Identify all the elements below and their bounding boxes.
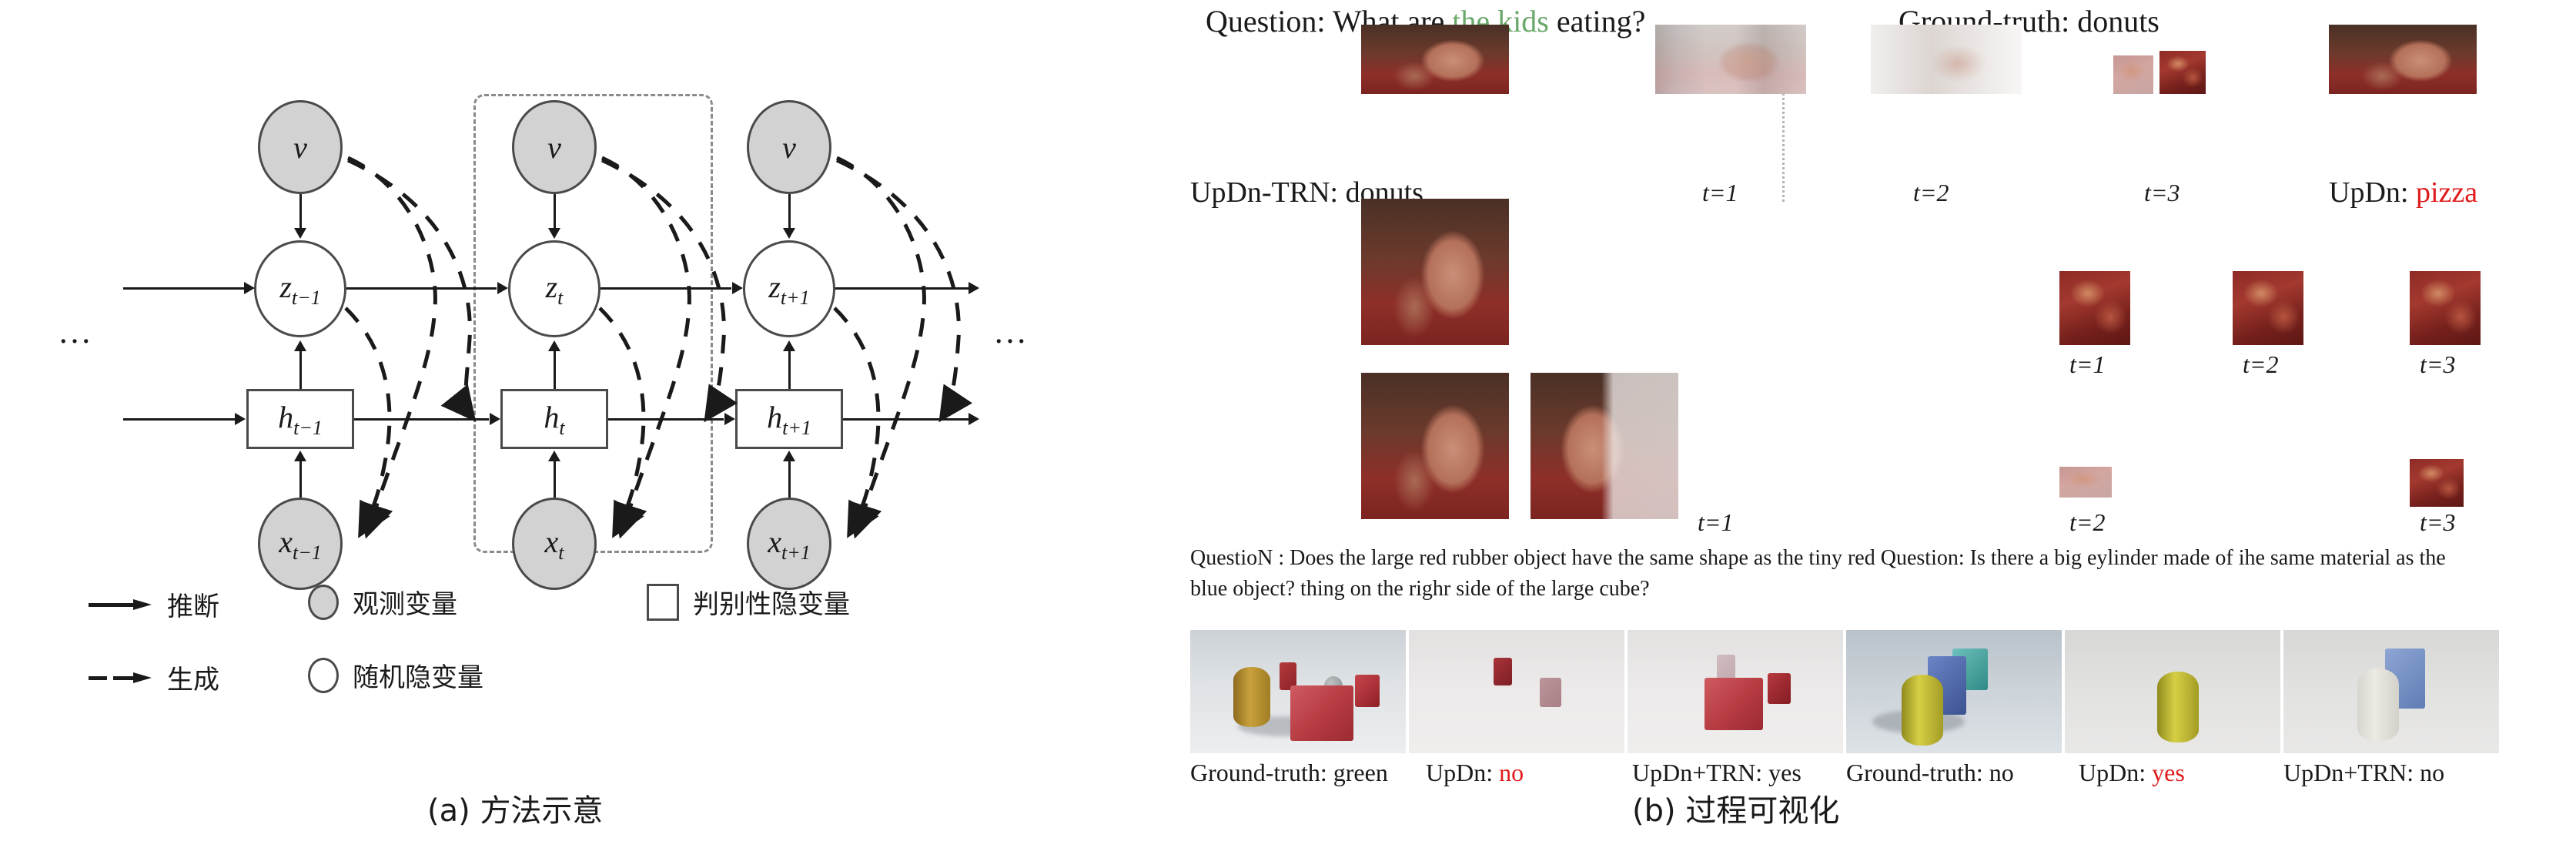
- node-v-cur: v: [512, 100, 597, 194]
- clevr-image-updn-trn-yes: [1628, 630, 1843, 753]
- edge-x-to-h-prev: [299, 461, 302, 498]
- row1-label-updn-prefix: UpDn:: [2329, 176, 2416, 209]
- clevr-label-updn-trn-yes-answer: yes: [1768, 759, 1802, 786]
- node-h-prev-label: ht−1: [278, 399, 323, 440]
- edge-h-prev-to-h-cur: [354, 418, 489, 421]
- clevr-label-gt-no-answer: no: [1989, 759, 2014, 786]
- legend-label-stochastic: 随机隐变量: [353, 656, 483, 694]
- edge-z-prev-to-z-cur: [346, 287, 497, 290]
- node-z-next-label: zt+1: [768, 269, 809, 310]
- empty-circle-icon: [308, 658, 339, 693]
- clevr-image-updn-no: [1409, 630, 1624, 753]
- panel-b-visualization: Question: What are the kids eating? Grou…: [1155, 0, 2576, 858]
- dashed-arrow-icon: [89, 672, 153, 683]
- edge-h-cur-to-h-next: [608, 418, 724, 421]
- caption-panel-a: (a) 方法示意: [427, 786, 603, 830]
- node-v-cur-label: v: [547, 129, 561, 166]
- clevr-image-updn-trn-no: [2283, 630, 2499, 753]
- arrowhead-z-cur-to-z-next: [732, 282, 743, 294]
- clevr-image-updn-yes: [2065, 630, 2280, 753]
- legend-label-generation: 生成: [167, 659, 219, 696]
- arrowhead-z-in-left: [244, 282, 255, 294]
- row2-step-label-t3: t=3: [2420, 350, 2455, 379]
- row1-label-updn: UpDn: pizza: [2329, 176, 2477, 209]
- arrowhead-z-prev-to-z-cur: [497, 282, 508, 294]
- node-v-prev: v: [258, 100, 343, 194]
- node-v-next: v: [747, 100, 831, 194]
- thumb-row1-t3b: [2159, 51, 2206, 94]
- node-x-cur: xt: [512, 498, 597, 590]
- thumb-row3-original: [1361, 373, 1509, 519]
- node-z-prev: zt−1: [254, 240, 346, 337]
- row1-step-label-t2: t=2: [1913, 179, 1949, 207]
- legend-item-stochastic: 随机隐变量: [308, 656, 483, 694]
- arrowhead-v-to-z-next: [783, 228, 795, 239]
- solid-arrow-icon: [89, 599, 153, 610]
- clevr-label-gt-green: Ground-truth: green: [1190, 759, 1388, 787]
- legend-label-observed: 观测变量: [353, 583, 457, 621]
- thumb-row3-t2: [2059, 467, 2112, 498]
- rectangle-icon: [647, 584, 679, 621]
- edge-x-to-h-cur: [554, 461, 556, 498]
- clevr-image-gt-no: [1846, 630, 2062, 753]
- legend-item-deterministic: 判别性隐变量: [647, 583, 850, 621]
- edge-h-to-z-prev: [299, 350, 302, 389]
- node-v-prev-label: v: [293, 129, 307, 166]
- row3-step-label-t3: t=3: [2420, 508, 2455, 537]
- ellipsis-right: …: [993, 312, 1030, 351]
- legend-label-deterministic: 判别性隐变量: [693, 583, 850, 621]
- clevr-label-updn-trn-no-answer: no: [2420, 759, 2444, 786]
- arrowhead-h-to-z-prev: [294, 340, 306, 351]
- arrowhead-x-to-h-prev: [294, 451, 306, 461]
- clevr-label-gt-green-prefix: Ground-truth:: [1190, 759, 1333, 786]
- row3-step-label-t2: t=2: [2069, 508, 2105, 537]
- thumb-row2-original: [1361, 199, 1509, 345]
- arrowhead-h-prev-to-h-cur: [490, 413, 500, 425]
- legend-item-observed: 观测变量: [308, 583, 457, 621]
- clevr-label-gt-no-prefix: Ground-truth:: [1846, 759, 1989, 786]
- edge-x-to-h-next: [788, 461, 791, 498]
- edge-z-out-right: [835, 287, 970, 290]
- node-h-cur: ht: [500, 389, 608, 449]
- vqa-question-suffix: eating?: [1549, 4, 1646, 39]
- node-z-cur-label: zt: [546, 269, 564, 310]
- panel-a-graphical-model: v zt−1 ht−1 xt−1 v zt ht xt v zt+1: [0, 0, 1155, 858]
- edge-h-out-right: [843, 418, 970, 421]
- thumb-row1-updn: [2329, 25, 2477, 94]
- arrowhead-h-cur-to-h-next: [724, 413, 735, 425]
- clevr-label-gt-no: Ground-truth: no: [1846, 759, 2014, 787]
- node-h-next: ht+1: [735, 389, 843, 449]
- arrowhead-h-to-z-cur: [548, 340, 560, 351]
- clevr-label-updn-no-answer: no: [1499, 759, 1524, 786]
- row1-step-label-t1: t=1: [1702, 179, 1738, 207]
- row3-step-label-t1: t=1: [1698, 508, 1733, 537]
- clevr-image-gt-green: [1190, 630, 1406, 753]
- edge-z-cur-to-z-next: [601, 287, 731, 290]
- arrowhead-x-to-h-cur: [548, 451, 560, 461]
- arrowhead-h-to-z-next: [783, 340, 795, 351]
- thumb-row2-t3: [2410, 271, 2481, 345]
- legend-item-generation: 生成: [89, 659, 219, 696]
- node-x-prev-label: xt−1: [279, 524, 322, 565]
- node-x-next: xt+1: [747, 498, 831, 590]
- row1-label-updn-answer: pizza: [2416, 176, 2477, 209]
- thumb-row2-t2: [2233, 271, 2303, 345]
- row2-step-label-t1: t=1: [2069, 350, 2105, 379]
- node-v-next-label: v: [782, 129, 796, 166]
- clevr-label-updn-trn-no: UpDn+TRN: no: [2283, 759, 2444, 787]
- clevr-label-updn-no-prefix: UpDn:: [1426, 759, 1499, 786]
- ellipsis-left: …: [58, 312, 95, 351]
- node-x-next-label: xt+1: [768, 524, 811, 565]
- arrowhead-h-out-right: [969, 413, 979, 425]
- node-z-prev-label: zt−1: [279, 269, 320, 310]
- clevr-question-paragraph: QuestioN : Does the large red rubber obj…: [1190, 543, 2468, 605]
- clevr-label-updn-trn-yes-prefix: UpDn+TRN:: [1632, 759, 1768, 786]
- thumb-row1-t2: [1871, 25, 2022, 94]
- clevr-label-updn-trn-yes: UpDn+TRN: yes: [1632, 759, 1802, 787]
- edge-h-to-z-cur: [554, 350, 556, 389]
- row1-step-label-t3: t=3: [2144, 179, 2180, 207]
- thumb-row1-t1: [1655, 25, 1806, 94]
- arrowhead-h-in-left: [235, 413, 246, 425]
- caption-panel-b: (b) 过程可视化: [1632, 786, 1839, 830]
- edge-h-to-z-next: [788, 350, 791, 389]
- node-h-prev: ht−1: [246, 389, 354, 449]
- arrowhead-x-to-h-next: [783, 451, 795, 461]
- legend-item-inference: 推断: [89, 585, 219, 623]
- clevr-label-updn-no: UpDn: no: [1426, 759, 1524, 787]
- thumb-row1-original: [1361, 25, 1509, 94]
- edge-z-in-left: [123, 287, 246, 290]
- thumb-row3-t3: [2410, 459, 2464, 507]
- thumb-row3-t1: [1531, 373, 1678, 519]
- clevr-label-updn-yes-prefix: UpDn:: [2079, 759, 2152, 786]
- edge-h-in-left: [123, 418, 235, 421]
- node-h-cur-label: ht: [544, 399, 564, 440]
- node-x-prev: xt−1: [258, 498, 343, 590]
- clevr-label-updn-yes: UpDn: yes: [2079, 759, 2185, 787]
- arrowhead-v-to-z-cur: [548, 228, 560, 239]
- row2-step-label-t2: t=2: [2243, 350, 2278, 379]
- clevr-label-gt-green-answer: green: [1333, 759, 1388, 786]
- thumb-row1-t3a: [2113, 55, 2153, 94]
- node-z-next: zt+1: [743, 240, 835, 337]
- node-z-cur: zt: [508, 240, 601, 337]
- legend-label-inference: 推断: [167, 585, 219, 623]
- filled-circle-icon: [308, 585, 339, 620]
- node-x-cur-label: xt: [545, 524, 564, 565]
- arrowhead-z-out-right: [969, 282, 979, 294]
- thumb-row2-t1: [2059, 271, 2130, 345]
- node-h-next-label: ht+1: [767, 399, 811, 440]
- clevr-label-updn-yes-answer: yes: [2152, 759, 2185, 786]
- clevr-label-updn-trn-no-prefix: UpDn+TRN:: [2283, 759, 2420, 786]
- arrowhead-v-to-z-prev: [294, 228, 306, 239]
